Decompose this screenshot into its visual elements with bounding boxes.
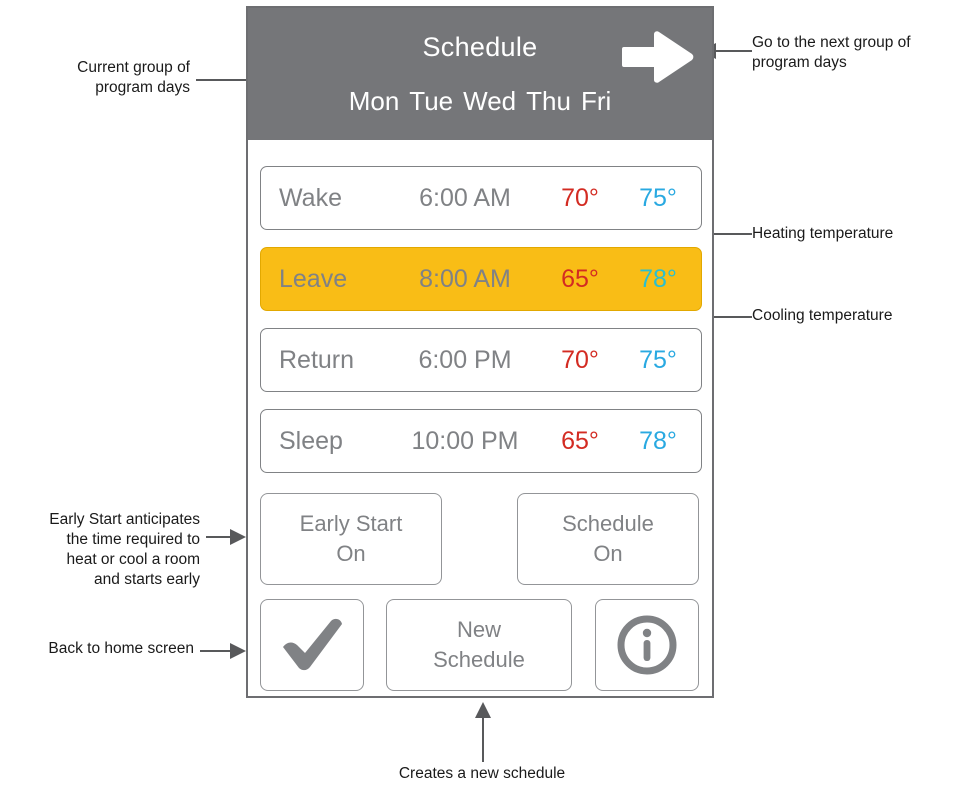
annotation-back-home: Back to home screen — [10, 639, 194, 659]
annotation-cooling-temperature: Cooling temperature — [752, 306, 952, 326]
row-heat-temp[interactable]: 65° — [547, 427, 613, 456]
day-wed: Wed — [463, 86, 516, 116]
annotation-creates-new-schedule: Creates a new schedule — [362, 764, 602, 784]
leader-line-back-home — [200, 650, 232, 652]
table-row[interactable]: Wake 6:00 AM 70° 75° — [260, 166, 702, 230]
annotation-next-group: Go to the next group of program days — [752, 33, 952, 73]
done-button[interactable] — [260, 599, 364, 691]
row-time[interactable]: 6:00 AM — [385, 184, 545, 213]
leader-line-next-group — [716, 50, 752, 52]
row-time[interactable]: 8:00 AM — [385, 265, 545, 294]
row-cool-temp[interactable]: 75° — [625, 346, 691, 375]
row-cool-temp[interactable]: 75° — [625, 184, 691, 213]
row-heat-temp[interactable]: 70° — [547, 346, 613, 375]
row-heat-temp[interactable]: 65° — [547, 265, 613, 294]
row-label: Return — [279, 346, 354, 375]
early-start-button[interactable]: Early Start On — [260, 493, 442, 585]
leader-arrow-early-start — [230, 529, 246, 545]
leader-arrow-back-home — [230, 643, 246, 659]
leader-line-new-schedule — [482, 716, 484, 762]
annotation-heating-temperature: Heating temperature — [752, 224, 952, 244]
checkmark-icon — [279, 617, 345, 673]
day-fri: Fri — [581, 86, 611, 116]
schedule-header: Schedule MonTueWedThuFri — [248, 8, 712, 140]
day-tue: Tue — [409, 86, 453, 116]
row-label: Sleep — [279, 427, 343, 456]
row-heat-temp[interactable]: 70° — [547, 184, 613, 213]
leader-line-early-start — [206, 536, 232, 538]
early-start-label: Early Start — [300, 509, 403, 539]
row-cool-temp[interactable]: 78° — [625, 265, 691, 294]
info-button[interactable] — [595, 599, 699, 691]
day-group: MonTueWedThuFri — [248, 86, 712, 117]
schedule-screen: Wake 6:00 AM 70° 75° Leave 8:00 AM 65° 7… — [248, 140, 712, 696]
row-time[interactable]: 6:00 PM — [385, 346, 545, 375]
table-row[interactable]: Return 6:00 PM 70° 75° — [260, 328, 702, 392]
table-row[interactable]: Leave 8:00 AM 65° 78° — [260, 247, 702, 311]
row-label: Wake — [279, 184, 342, 213]
annotation-early-start: Early Start anticipates the time require… — [4, 510, 200, 590]
row-cool-temp[interactable]: 78° — [625, 427, 691, 456]
leader-arrow-new-schedule — [475, 702, 491, 718]
day-mon: Mon — [349, 86, 400, 116]
early-start-state: On — [336, 539, 365, 569]
new-schedule-label-line1: New — [457, 615, 501, 645]
table-row[interactable]: Sleep 10:00 PM 65° 78° — [260, 409, 702, 473]
thermostat-device: Schedule MonTueWedThuFri Wake 6:00 AM 70… — [246, 6, 714, 698]
schedule-toggle-label: Schedule — [562, 509, 654, 539]
day-thu: Thu — [526, 86, 571, 116]
annotation-current-group: Current group of program days — [20, 58, 190, 98]
new-schedule-label-line2: Schedule — [433, 645, 525, 675]
schedule-toggle-state: On — [593, 539, 622, 569]
row-time[interactable]: 10:00 PM — [385, 427, 545, 456]
schedule-toggle-button[interactable]: Schedule On — [517, 493, 699, 585]
new-schedule-button[interactable]: New Schedule — [386, 599, 572, 691]
row-label: Leave — [279, 265, 347, 294]
info-circle-icon — [615, 613, 679, 677]
arrow-right-icon[interactable] — [622, 31, 694, 83]
